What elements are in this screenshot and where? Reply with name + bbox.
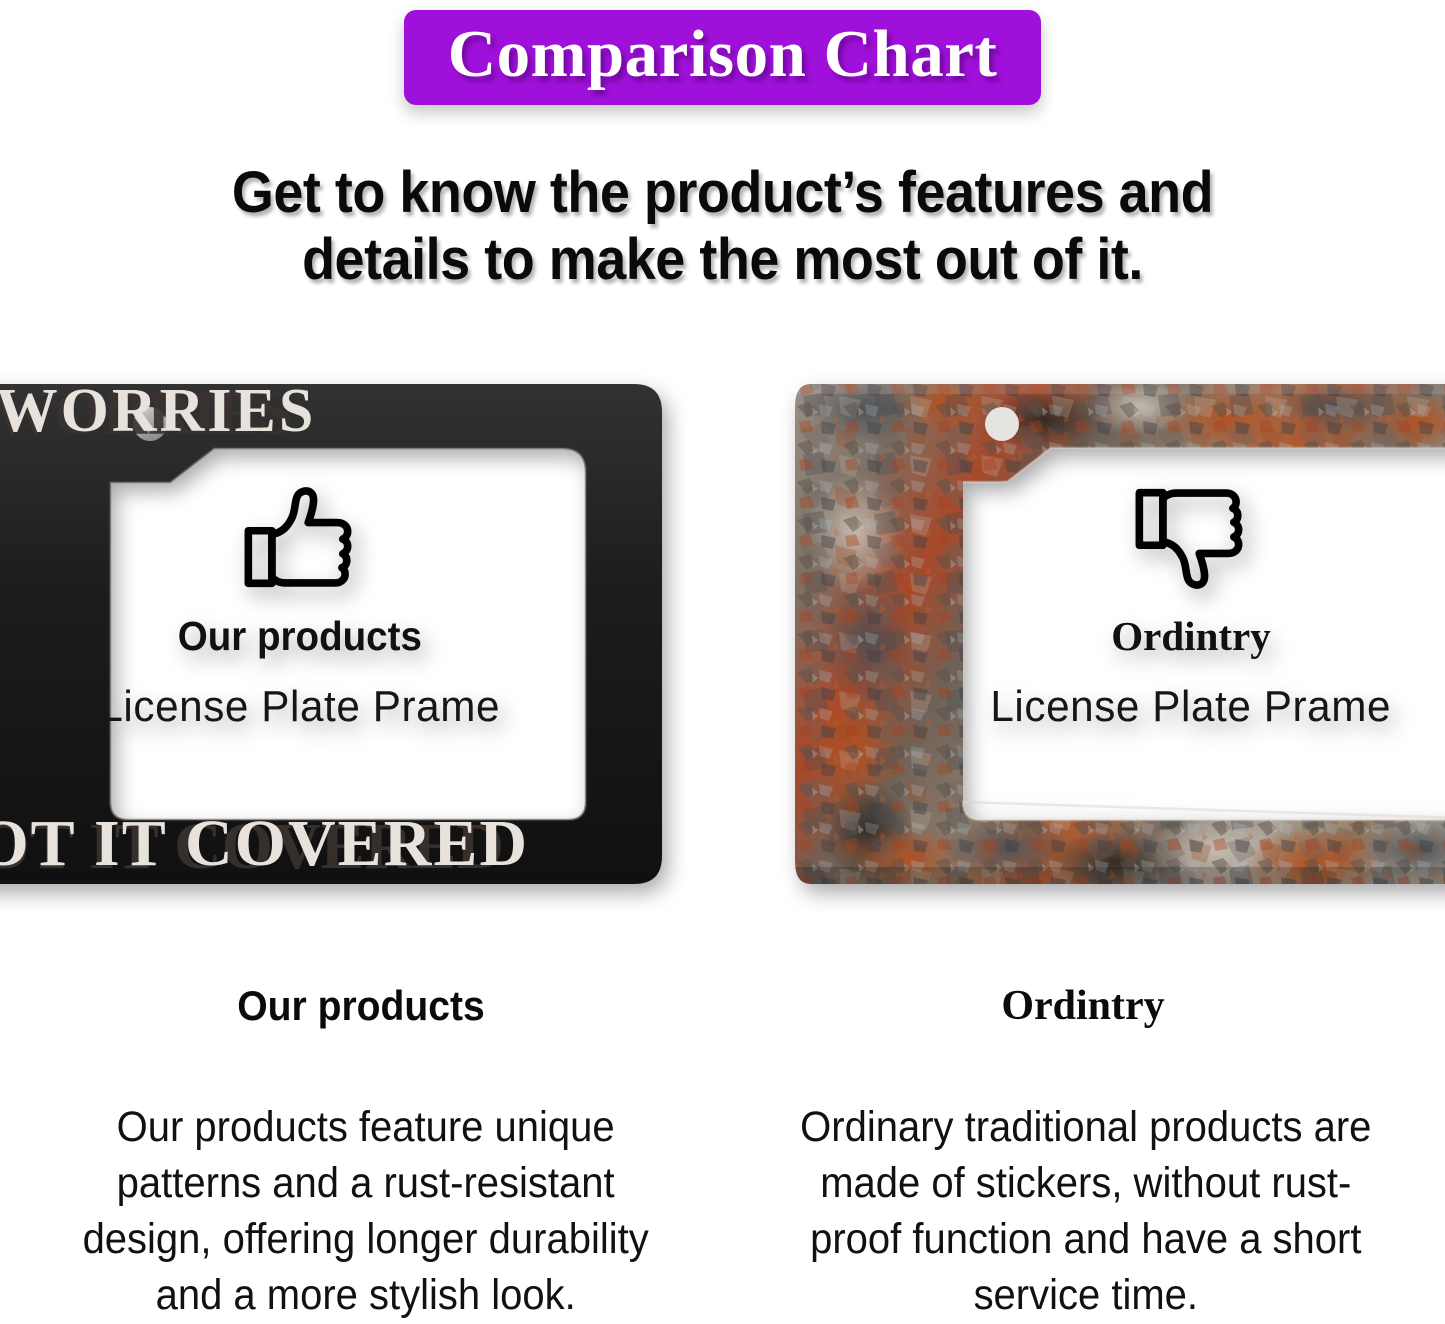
rusty-license-plate-frame-graphic [795,362,1445,910]
comparison-column-ordintry: Ordintry Ordinary traditional products a… [722,985,1444,1324]
comparison-description-our-products: Our products feature unique patterns and… [25,1100,696,1324]
title-banner-container: Comparison Chart [0,10,1445,105]
comparison-column-our-products: Our products Our products feature unique… [0,985,722,1324]
black-license-plate-frame-graphic: O WORRIES O WORRIES GOT IT COVERED GOT I… [0,362,678,910]
comparison-heading-our-products: Our products [25,985,696,1027]
comparison-description-row: Our products Our products feature unique… [0,985,1445,1324]
frame-bottom-text: GOT IT COVERED [0,807,529,880]
comparison-heading-ordintry: Ordintry [722,985,1444,1027]
mounting-hole-icon [985,407,1019,441]
page-title: Comparison Chart [448,19,998,90]
title-banner: Comparison Chart [404,10,1042,105]
product-frames-row: O WORRIES O WORRIES GOT IT COVERED GOT I… [0,362,1445,918]
comparison-description-ordintry: Ordinary traditional products are made o… [747,1100,1418,1324]
page-subtitle: Get to know the product’s features and d… [51,160,1395,293]
product-image-ordintry: Ordintry License Plate Prame [795,362,1445,910]
page-subtitle-line-2: details to make the most out of it. [51,227,1395,294]
product-image-our-products: O WORRIES O WORRIES GOT IT COVERED GOT I… [0,362,678,910]
frame-top-text: O WORRIES [0,377,316,445]
page-subtitle-line-1: Get to know the product’s features and [51,160,1395,227]
